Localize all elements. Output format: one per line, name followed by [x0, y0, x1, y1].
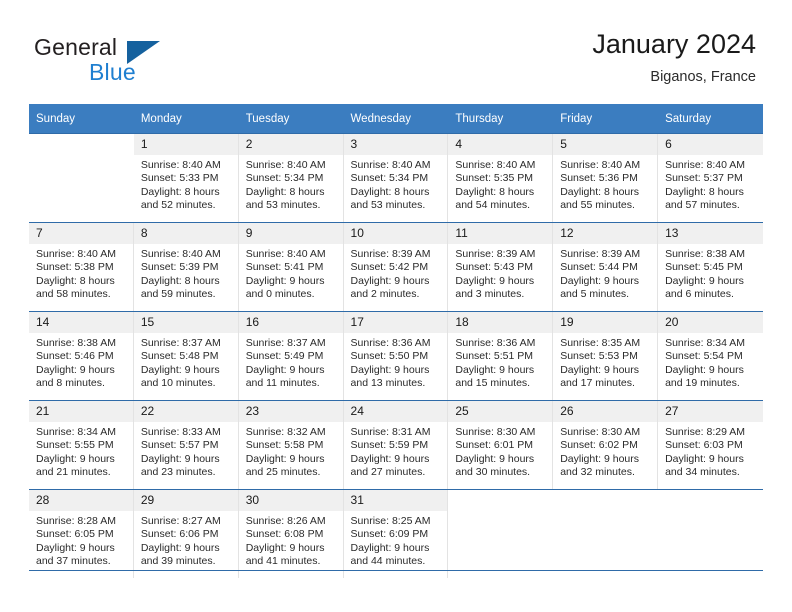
sunrise-text: Sunrise: 8:38 AM: [665, 248, 759, 261]
weekday-header-wednesday: Wednesday: [344, 104, 449, 134]
calendar-day-cell[interactable]: 2Sunrise: 8:40 AMSunset: 5:34 PMDaylight…: [239, 134, 344, 222]
calendar-day-cell[interactable]: 28Sunrise: 8:28 AMSunset: 6:05 PMDayligh…: [29, 490, 134, 578]
sunrise-text: Sunrise: 8:36 AM: [455, 337, 548, 350]
day-info: Sunrise: 8:31 AMSunset: 5:59 PMDaylight:…: [344, 422, 448, 480]
calendar-week-row: 28Sunrise: 8:28 AMSunset: 6:05 PMDayligh…: [29, 490, 763, 579]
day-info: Sunrise: 8:29 AMSunset: 6:03 PMDaylight:…: [658, 422, 763, 480]
calendar-day-cell[interactable]: 30Sunrise: 8:26 AMSunset: 6:08 PMDayligh…: [239, 490, 344, 578]
page-header: General Blue January 2024 Biganos, Franc…: [0, 0, 792, 100]
daylight-text-line2: and 19 minutes.: [665, 377, 759, 390]
calendar-week-row: 21Sunrise: 8:34 AMSunset: 5:55 PMDayligh…: [29, 401, 763, 490]
sunrise-text: Sunrise: 8:39 AM: [351, 248, 444, 261]
sunset-text: Sunset: 5:38 PM: [36, 261, 129, 274]
daylight-text-line2: and 59 minutes.: [141, 288, 234, 301]
sunrise-text: Sunrise: 8:33 AM: [141, 426, 234, 439]
daylight-text-line2: and 34 minutes.: [665, 466, 759, 479]
sunrise-text: Sunrise: 8:40 AM: [36, 248, 129, 261]
sunset-text: Sunset: 5:46 PM: [36, 350, 129, 363]
day-number: 2: [239, 134, 343, 155]
daylight-text-line1: Daylight: 9 hours: [455, 453, 548, 466]
calendar-week-row: 14Sunrise: 8:38 AMSunset: 5:46 PMDayligh…: [29, 312, 763, 401]
day-info: Sunrise: 8:33 AMSunset: 5:57 PMDaylight:…: [134, 422, 238, 480]
sunrise-text: Sunrise: 8:36 AM: [351, 337, 444, 350]
sunrise-text: Sunrise: 8:40 AM: [141, 159, 234, 172]
sunset-text: Sunset: 6:09 PM: [351, 528, 444, 541]
sunset-text: Sunset: 5:53 PM: [560, 350, 653, 363]
sunset-text: Sunset: 5:51 PM: [455, 350, 548, 363]
sunrise-text: Sunrise: 8:39 AM: [455, 248, 548, 261]
calendar-day-cell[interactable]: 26Sunrise: 8:30 AMSunset: 6:02 PMDayligh…: [553, 401, 658, 489]
sunset-text: Sunset: 5:43 PM: [455, 261, 548, 274]
sunrise-text: Sunrise: 8:40 AM: [665, 159, 759, 172]
sunrise-text: Sunrise: 8:31 AM: [351, 426, 444, 439]
calendar-body: 1Sunrise: 8:40 AMSunset: 5:33 PMDaylight…: [29, 134, 763, 579]
daylight-text-line2: and 55 minutes.: [560, 199, 653, 212]
day-info: Sunrise: 8:35 AMSunset: 5:53 PMDaylight:…: [553, 333, 657, 391]
daylight-text-line1: Daylight: 8 hours: [36, 275, 129, 288]
day-number: 21: [29, 401, 133, 422]
day-info: Sunrise: 8:37 AMSunset: 5:48 PMDaylight:…: [134, 333, 238, 391]
calendar-page: General Blue January 2024 Biganos, Franc…: [0, 0, 792, 612]
calendar-day-cell[interactable]: 4Sunrise: 8:40 AMSunset: 5:35 PMDaylight…: [448, 134, 553, 222]
daylight-text-line2: and 41 minutes.: [246, 555, 339, 568]
weekday-header-thursday: Thursday: [448, 104, 553, 134]
daylight-text-line2: and 10 minutes.: [141, 377, 234, 390]
weekday-header-saturday: Saturday: [658, 104, 763, 134]
sunrise-text: Sunrise: 8:27 AM: [141, 515, 234, 528]
sunrise-text: Sunrise: 8:40 AM: [560, 159, 653, 172]
sunrise-text: Sunrise: 8:38 AM: [36, 337, 129, 350]
daylight-text-line2: and 53 minutes.: [351, 199, 444, 212]
sunset-text: Sunset: 5:59 PM: [351, 439, 444, 452]
sunrise-text: Sunrise: 8:28 AM: [36, 515, 129, 528]
sunset-text: Sunset: 5:35 PM: [455, 172, 548, 185]
daylight-text-line2: and 30 minutes.: [455, 466, 548, 479]
daylight-text-line1: Daylight: 8 hours: [351, 186, 444, 199]
daylight-text-line1: Daylight: 9 hours: [36, 364, 129, 377]
sunset-text: Sunset: 5:54 PM: [665, 350, 759, 363]
day-number: 17: [344, 312, 448, 333]
day-info: Sunrise: 8:40 AMSunset: 5:36 PMDaylight:…: [553, 155, 657, 213]
sunrise-text: Sunrise: 8:35 AM: [560, 337, 653, 350]
daylight-text-line1: Daylight: 9 hours: [36, 453, 129, 466]
calendar-day-cell[interactable]: 14Sunrise: 8:38 AMSunset: 5:46 PMDayligh…: [29, 312, 134, 400]
day-info: Sunrise: 8:30 AMSunset: 6:01 PMDaylight:…: [448, 422, 552, 480]
daylight-text-line2: and 8 minutes.: [36, 377, 129, 390]
day-number: 10: [344, 223, 448, 244]
sunrise-text: Sunrise: 8:25 AM: [351, 515, 444, 528]
day-number: 5: [553, 134, 657, 155]
daylight-text-line2: and 32 minutes.: [560, 466, 653, 479]
day-info: Sunrise: 8:40 AMSunset: 5:39 PMDaylight:…: [134, 244, 238, 302]
sunset-text: Sunset: 6:08 PM: [246, 528, 339, 541]
daylight-text-line1: Daylight: 9 hours: [560, 275, 653, 288]
day-number: 6: [658, 134, 763, 155]
day-number: 26: [553, 401, 657, 422]
weekday-header-tuesday: Tuesday: [239, 104, 344, 134]
day-number: 20: [658, 312, 763, 333]
day-info: Sunrise: 8:40 AMSunset: 5:38 PMDaylight:…: [29, 244, 133, 302]
daylight-text-line1: Daylight: 8 hours: [246, 186, 339, 199]
day-info: Sunrise: 8:38 AMSunset: 5:45 PMDaylight:…: [658, 244, 763, 302]
sunset-text: Sunset: 5:55 PM: [36, 439, 129, 452]
daylight-text-line1: Daylight: 9 hours: [351, 453, 444, 466]
day-info: Sunrise: 8:27 AMSunset: 6:06 PMDaylight:…: [134, 511, 238, 569]
calendar-day-cell[interactable]: 31Sunrise: 8:25 AMSunset: 6:09 PMDayligh…: [344, 490, 449, 578]
calendar-day-cell[interactable]: 6Sunrise: 8:40 AMSunset: 5:37 PMDaylight…: [658, 134, 763, 222]
day-info: Sunrise: 8:34 AMSunset: 5:54 PMDaylight:…: [658, 333, 763, 391]
daylight-text-line2: and 0 minutes.: [246, 288, 339, 301]
daylight-text-line2: and 15 minutes.: [455, 377, 548, 390]
daylight-text-line2: and 23 minutes.: [141, 466, 234, 479]
calendar-day-cell[interactable]: 20Sunrise: 8:34 AMSunset: 5:54 PMDayligh…: [658, 312, 763, 400]
calendar-day-cell[interactable]: 25Sunrise: 8:30 AMSunset: 6:01 PMDayligh…: [448, 401, 553, 489]
calendar-day-cell[interactable]: 29Sunrise: 8:27 AMSunset: 6:06 PMDayligh…: [134, 490, 239, 578]
calendar-cell-empty: [553, 490, 658, 578]
sunrise-text: Sunrise: 8:40 AM: [246, 248, 339, 261]
weekday-header-monday: Monday: [134, 104, 239, 134]
day-info: Sunrise: 8:40 AMSunset: 5:34 PMDaylight:…: [344, 155, 448, 213]
daylight-text-line2: and 54 minutes.: [455, 199, 548, 212]
sunrise-text: Sunrise: 8:29 AM: [665, 426, 759, 439]
title-block: January 2024 Biganos, France: [592, 30, 756, 85]
day-info: Sunrise: 8:34 AMSunset: 5:55 PMDaylight:…: [29, 422, 133, 480]
day-number: 29: [134, 490, 238, 511]
sunset-text: Sunset: 5:33 PM: [141, 172, 234, 185]
calendar-day-cell[interactable]: 18Sunrise: 8:36 AMSunset: 5:51 PMDayligh…: [448, 312, 553, 400]
daylight-text-line2: and 39 minutes.: [141, 555, 234, 568]
day-number: 31: [344, 490, 448, 511]
sunrise-text: Sunrise: 8:34 AM: [36, 426, 129, 439]
daylight-text-line1: Daylight: 9 hours: [665, 453, 759, 466]
day-number: 22: [134, 401, 238, 422]
sunset-text: Sunset: 6:01 PM: [455, 439, 548, 452]
daylight-text-line1: Daylight: 9 hours: [246, 364, 339, 377]
calendar-day-cell[interactable]: 13Sunrise: 8:38 AMSunset: 5:45 PMDayligh…: [658, 223, 763, 311]
sunset-text: Sunset: 6:03 PM: [665, 439, 759, 452]
daylight-text-line2: and 58 minutes.: [36, 288, 129, 301]
calendar-week-row: 1Sunrise: 8:40 AMSunset: 5:33 PMDaylight…: [29, 134, 763, 223]
daylight-text-line2: and 21 minutes.: [36, 466, 129, 479]
day-number: [29, 134, 134, 155]
day-number: 12: [553, 223, 657, 244]
sunrise-text: Sunrise: 8:40 AM: [351, 159, 444, 172]
calendar-day-cell[interactable]: 17Sunrise: 8:36 AMSunset: 5:50 PMDayligh…: [344, 312, 449, 400]
sunrise-text: Sunrise: 8:40 AM: [246, 159, 339, 172]
day-number: 14: [29, 312, 133, 333]
calendar-bottom-rule: [29, 570, 763, 571]
logo-text-general: General: [34, 34, 117, 61]
daylight-text-line2: and 17 minutes.: [560, 377, 653, 390]
calendar-day-cell[interactable]: 5Sunrise: 8:40 AMSunset: 5:36 PMDaylight…: [553, 134, 658, 222]
daylight-text-line1: Daylight: 9 hours: [141, 364, 234, 377]
calendar-day-cell[interactable]: 24Sunrise: 8:31 AMSunset: 5:59 PMDayligh…: [344, 401, 449, 489]
sunrise-text: Sunrise: 8:30 AM: [560, 426, 653, 439]
sunset-text: Sunset: 5:42 PM: [351, 261, 444, 274]
calendar-day-cell[interactable]: 16Sunrise: 8:37 AMSunset: 5:49 PMDayligh…: [239, 312, 344, 400]
day-number: 16: [239, 312, 343, 333]
calendar-day-cell[interactable]: 27Sunrise: 8:29 AMSunset: 6:03 PMDayligh…: [658, 401, 763, 489]
calendar-cell-empty: [448, 490, 553, 578]
sunset-text: Sunset: 5:48 PM: [141, 350, 234, 363]
daylight-text-line1: Daylight: 9 hours: [665, 275, 759, 288]
sunrise-text: Sunrise: 8:30 AM: [455, 426, 548, 439]
calendar-day-cell[interactable]: 11Sunrise: 8:39 AMSunset: 5:43 PMDayligh…: [448, 223, 553, 311]
day-info: Sunrise: 8:38 AMSunset: 5:46 PMDaylight:…: [29, 333, 133, 391]
day-info: Sunrise: 8:40 AMSunset: 5:34 PMDaylight:…: [239, 155, 343, 213]
calendar-header-row: SundayMondayTuesdayWednesdayThursdayFrid…: [29, 104, 763, 134]
day-number: 9: [239, 223, 343, 244]
sunset-text: Sunset: 5:50 PM: [351, 350, 444, 363]
daylight-text-line2: and 44 minutes.: [351, 555, 444, 568]
sunset-text: Sunset: 5:34 PM: [246, 172, 339, 185]
sunset-text: Sunset: 6:05 PM: [36, 528, 129, 541]
sunset-text: Sunset: 5:34 PM: [351, 172, 444, 185]
daylight-text-line1: Daylight: 8 hours: [665, 186, 759, 199]
day-info: Sunrise: 8:32 AMSunset: 5:58 PMDaylight:…: [239, 422, 343, 480]
daylight-text-line1: Daylight: 9 hours: [246, 453, 339, 466]
day-info: Sunrise: 8:40 AMSunset: 5:35 PMDaylight:…: [448, 155, 552, 213]
sunset-text: Sunset: 6:02 PM: [560, 439, 653, 452]
daylight-text-line2: and 6 minutes.: [665, 288, 759, 301]
sunrise-text: Sunrise: 8:34 AM: [665, 337, 759, 350]
day-info: Sunrise: 8:39 AMSunset: 5:44 PMDaylight:…: [553, 244, 657, 302]
daylight-text-line1: Daylight: 9 hours: [560, 453, 653, 466]
daylight-text-line2: and 52 minutes.: [141, 199, 234, 212]
daylight-text-line1: Daylight: 9 hours: [665, 364, 759, 377]
day-number: 1: [134, 134, 238, 155]
daylight-text-line1: Daylight: 8 hours: [560, 186, 653, 199]
day-number: 19: [553, 312, 657, 333]
daylight-text-line1: Daylight: 9 hours: [141, 542, 234, 555]
daylight-text-line2: and 11 minutes.: [246, 377, 339, 390]
sunset-text: Sunset: 5:36 PM: [560, 172, 653, 185]
sunrise-text: Sunrise: 8:37 AM: [141, 337, 234, 350]
daylight-text-line1: Daylight: 8 hours: [141, 186, 234, 199]
day-info: Sunrise: 8:40 AMSunset: 5:33 PMDaylight:…: [134, 155, 238, 213]
calendar-day-cell[interactable]: 7Sunrise: 8:40 AMSunset: 5:38 PMDaylight…: [29, 223, 134, 311]
day-number: 3: [344, 134, 448, 155]
daylight-text-line2: and 13 minutes.: [351, 377, 444, 390]
daylight-text-line2: and 37 minutes.: [36, 555, 129, 568]
calendar-cell-empty: [29, 134, 134, 222]
sunset-text: Sunset: 5:45 PM: [665, 261, 759, 274]
day-number: 7: [29, 223, 133, 244]
day-number: 4: [448, 134, 552, 155]
day-number: [553, 490, 658, 511]
daylight-text-line1: Daylight: 9 hours: [351, 364, 444, 377]
calendar-cell-empty: [658, 490, 763, 578]
daylight-text-line1: Daylight: 8 hours: [455, 186, 548, 199]
sunrise-text: Sunrise: 8:37 AM: [246, 337, 339, 350]
calendar-day-cell[interactable]: 22Sunrise: 8:33 AMSunset: 5:57 PMDayligh…: [134, 401, 239, 489]
day-number: 11: [448, 223, 552, 244]
day-info: Sunrise: 8:36 AMSunset: 5:50 PMDaylight:…: [344, 333, 448, 391]
sunrise-text: Sunrise: 8:32 AM: [246, 426, 339, 439]
calendar-day-cell[interactable]: 19Sunrise: 8:35 AMSunset: 5:53 PMDayligh…: [553, 312, 658, 400]
day-info: Sunrise: 8:28 AMSunset: 6:05 PMDaylight:…: [29, 511, 133, 569]
daylight-text-line2: and 3 minutes.: [455, 288, 548, 301]
day-number: 25: [448, 401, 552, 422]
day-info: Sunrise: 8:30 AMSunset: 6:02 PMDaylight:…: [553, 422, 657, 480]
sunset-text: Sunset: 5:44 PM: [560, 261, 653, 274]
daylight-text-line1: Daylight: 9 hours: [141, 453, 234, 466]
daylight-text-line1: Daylight: 9 hours: [351, 275, 444, 288]
calendar-day-cell[interactable]: 1Sunrise: 8:40 AMSunset: 5:33 PMDaylight…: [134, 134, 239, 222]
sunrise-text: Sunrise: 8:40 AM: [141, 248, 234, 261]
sunset-text: Sunset: 6:06 PM: [141, 528, 234, 541]
page-title: January 2024: [592, 30, 756, 60]
calendar-day-cell[interactable]: 8Sunrise: 8:40 AMSunset: 5:39 PMDaylight…: [134, 223, 239, 311]
daylight-text-line1: Daylight: 8 hours: [141, 275, 234, 288]
day-number: 28: [29, 490, 133, 511]
day-number: 15: [134, 312, 238, 333]
day-number: 27: [658, 401, 763, 422]
day-number: [658, 490, 763, 511]
daylight-text-line1: Daylight: 9 hours: [246, 275, 339, 288]
general-blue-logo[interactable]: General Blue: [34, 34, 254, 90]
sunrise-text: Sunrise: 8:26 AM: [246, 515, 339, 528]
day-info: Sunrise: 8:25 AMSunset: 6:09 PMDaylight:…: [344, 511, 448, 569]
daylight-text-line1: Daylight: 9 hours: [246, 542, 339, 555]
daylight-text-line1: Daylight: 9 hours: [455, 275, 548, 288]
daylight-text-line2: and 27 minutes.: [351, 466, 444, 479]
location-subtitle: Biganos, France: [592, 69, 756, 85]
day-info: Sunrise: 8:26 AMSunset: 6:08 PMDaylight:…: [239, 511, 343, 569]
sunset-text: Sunset: 5:49 PM: [246, 350, 339, 363]
day-number: 13: [658, 223, 763, 244]
calendar-day-cell[interactable]: 3Sunrise: 8:40 AMSunset: 5:34 PMDaylight…: [344, 134, 449, 222]
daylight-text-line1: Daylight: 9 hours: [351, 542, 444, 555]
calendar-day-cell[interactable]: 15Sunrise: 8:37 AMSunset: 5:48 PMDayligh…: [134, 312, 239, 400]
daylight-text-line2: and 25 minutes.: [246, 466, 339, 479]
calendar-day-cell[interactable]: 12Sunrise: 8:39 AMSunset: 5:44 PMDayligh…: [553, 223, 658, 311]
day-info: Sunrise: 8:37 AMSunset: 5:49 PMDaylight:…: [239, 333, 343, 391]
daylight-text-line2: and 57 minutes.: [665, 199, 759, 212]
calendar-day-cell[interactable]: 10Sunrise: 8:39 AMSunset: 5:42 PMDayligh…: [344, 223, 449, 311]
calendar-day-cell[interactable]: 9Sunrise: 8:40 AMSunset: 5:41 PMDaylight…: [239, 223, 344, 311]
calendar-day-cell[interactable]: 21Sunrise: 8:34 AMSunset: 5:55 PMDayligh…: [29, 401, 134, 489]
logo-text-blue: Blue: [89, 59, 136, 86]
daylight-text-line1: Daylight: 9 hours: [36, 542, 129, 555]
calendar-week-row: 7Sunrise: 8:40 AMSunset: 5:38 PMDaylight…: [29, 223, 763, 312]
sunrise-sunset-calendar: SundayMondayTuesdayWednesdayThursdayFrid…: [29, 104, 763, 578]
sunset-text: Sunset: 5:57 PM: [141, 439, 234, 452]
day-number: 8: [134, 223, 238, 244]
day-number: 30: [239, 490, 343, 511]
daylight-text-line2: and 53 minutes.: [246, 199, 339, 212]
day-number: 18: [448, 312, 552, 333]
day-number: 24: [344, 401, 448, 422]
sunset-text: Sunset: 5:58 PM: [246, 439, 339, 452]
sunset-text: Sunset: 5:41 PM: [246, 261, 339, 274]
day-info: Sunrise: 8:40 AMSunset: 5:41 PMDaylight:…: [239, 244, 343, 302]
calendar-day-cell[interactable]: 23Sunrise: 8:32 AMSunset: 5:58 PMDayligh…: [239, 401, 344, 489]
day-info: Sunrise: 8:36 AMSunset: 5:51 PMDaylight:…: [448, 333, 552, 391]
daylight-text-line1: Daylight: 9 hours: [560, 364, 653, 377]
weekday-header-sunday: Sunday: [29, 104, 134, 134]
weekday-header-friday: Friday: [553, 104, 658, 134]
day-info: Sunrise: 8:39 AMSunset: 5:43 PMDaylight:…: [448, 244, 552, 302]
day-info: Sunrise: 8:40 AMSunset: 5:37 PMDaylight:…: [658, 155, 763, 213]
daylight-text-line1: Daylight: 9 hours: [455, 364, 548, 377]
day-number: [448, 490, 553, 511]
sunrise-text: Sunrise: 8:39 AM: [560, 248, 653, 261]
daylight-text-line2: and 2 minutes.: [351, 288, 444, 301]
daylight-text-line2: and 5 minutes.: [560, 288, 653, 301]
day-number: 23: [239, 401, 343, 422]
sunset-text: Sunset: 5:39 PM: [141, 261, 234, 274]
sunset-text: Sunset: 5:37 PM: [665, 172, 759, 185]
sunrise-text: Sunrise: 8:40 AM: [455, 159, 548, 172]
day-info: Sunrise: 8:39 AMSunset: 5:42 PMDaylight:…: [344, 244, 448, 302]
